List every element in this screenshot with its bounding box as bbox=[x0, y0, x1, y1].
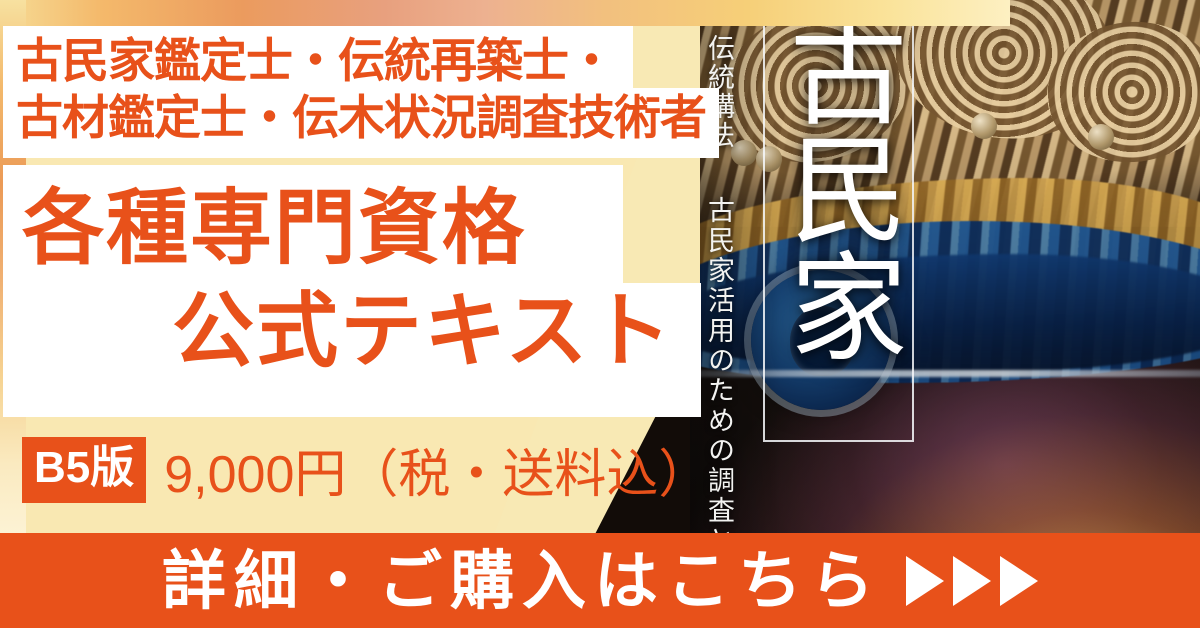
triangle-right-icon bbox=[906, 556, 944, 606]
triangle-right-icon bbox=[953, 556, 991, 606]
top-gradient-band bbox=[0, 0, 1010, 26]
qualification-line-2: 古材鑑定士・伝木状況調査技術者 bbox=[16, 89, 728, 146]
format-badge: B5版 bbox=[22, 437, 146, 503]
cover-title-text: 古民家 bbox=[772, 10, 904, 364]
cta-bar[interactable]: 詳細・ご購入はこちら bbox=[0, 533, 1200, 628]
headline-line-2: 公式テキスト bbox=[0, 281, 700, 384]
cta-arrows bbox=[906, 556, 1038, 606]
cta-label: 詳細・ご購入はこちら bbox=[162, 549, 882, 613]
page-title: 各種専門資格 公式テキスト bbox=[0, 178, 700, 383]
headline-line-1: 各種専門資格 bbox=[0, 178, 700, 281]
qualification-line-1: 古民家鑑定士・伝統再築士・ bbox=[16, 32, 728, 89]
promo-banner: 古民家 伝統構法 古民家活用のための調査と再生の 古民家鑑定士・伝統再築士・ 古… bbox=[0, 0, 1200, 628]
price-row: B5版 9,000円（税・送料込） bbox=[22, 432, 710, 507]
price-amount: 9,000円（税・送料込） bbox=[164, 432, 710, 507]
qualification-list: 古民家鑑定士・伝統再築士・ 古材鑑定士・伝木状況調査技術者 bbox=[16, 32, 728, 147]
triangle-right-icon bbox=[1000, 556, 1038, 606]
